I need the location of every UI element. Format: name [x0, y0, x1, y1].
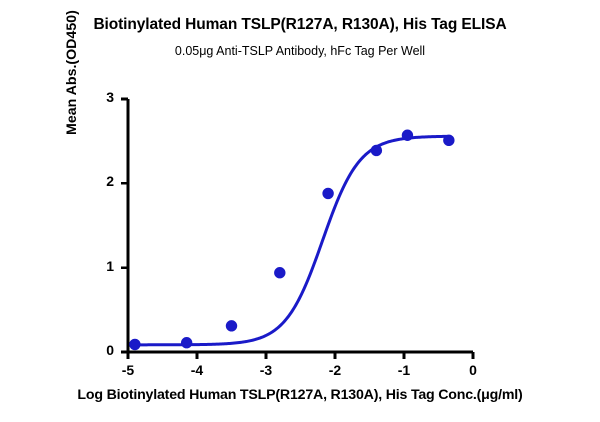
x-tick-label: -3 [236, 362, 296, 378]
data-point [371, 145, 381, 155]
data-point [323, 188, 333, 198]
elisa-chart-figure: Biotinylated Human TSLP(R127A, R130A), H… [0, 0, 600, 422]
data-point [275, 268, 285, 278]
fit-curve [134, 136, 451, 345]
y-tick-label: 0 [66, 342, 114, 358]
x-tick-label: -2 [305, 362, 365, 378]
data-point [402, 130, 412, 140]
x-tick-label: -1 [374, 362, 434, 378]
x-tick-label: -5 [98, 362, 158, 378]
x-tick-label: 0 [443, 362, 503, 378]
data-point [181, 338, 191, 348]
y-tick-label: 2 [66, 173, 114, 189]
data-point [444, 135, 454, 145]
y-tick-label: 1 [66, 258, 114, 274]
data-point [130, 339, 140, 349]
y-tick-label: 3 [66, 89, 114, 105]
x-tick-label: -4 [167, 362, 227, 378]
plot-area [0, 0, 600, 422]
data-point [226, 321, 236, 331]
